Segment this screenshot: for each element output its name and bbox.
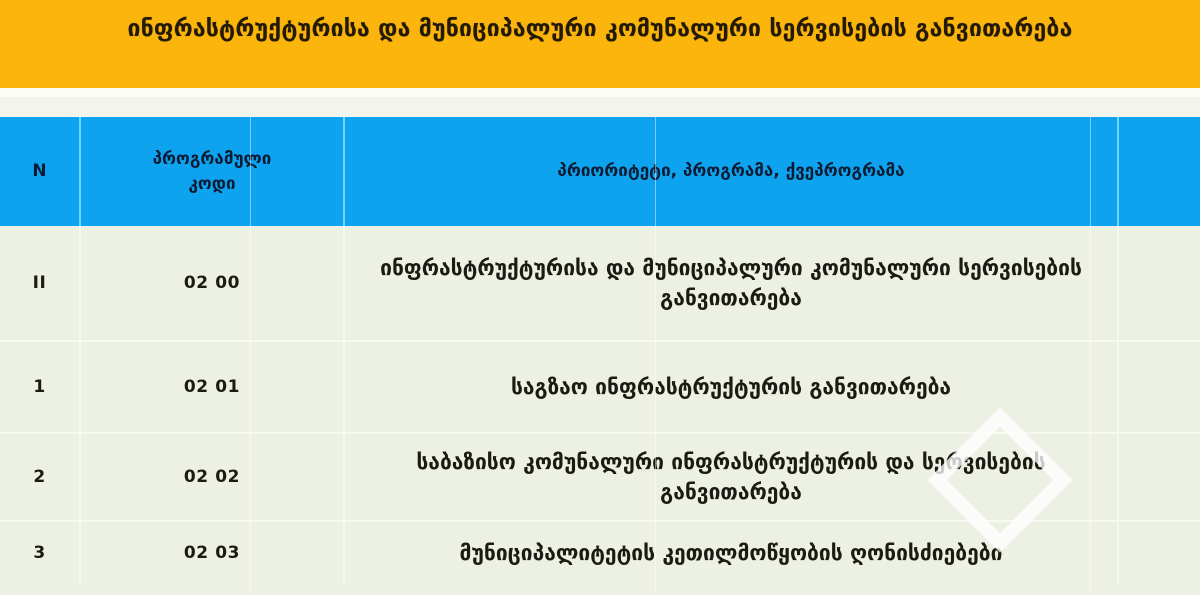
table-header: N პროგრამული კოდი პრიორიტეტი, პროგრამა, … — [0, 117, 1200, 226]
program-name-cell: საბაზისო კომუნალური ინფრასტრუქტურის და ს… — [344, 433, 1118, 521]
table-row: 3 02 03 მუნიციპალიტეტის კეთილმოწყობის ღო… — [0, 521, 1200, 584]
program-table-container: N პროგრამული კოდი პრიორიტეტი, პროგრამა, … — [0, 117, 1200, 595]
program-code-cell: 02 03 — [80, 521, 344, 584]
extra-cell — [1118, 433, 1200, 521]
program-name-cell: მუნიციპალიტეტის კეთილმოწყობის ღონისძიებე… — [344, 521, 1118, 584]
column-header-priority-program-subprogram: პრიორიტეტი, პროგრამა, ქვეპროგრამა — [344, 117, 1118, 226]
program-name-cell: საგზაო ინფრასტრუქტურის განვითარება — [344, 341, 1118, 433]
table-row: 2 02 02 საბაზისო კომუნალური ინფრასტრუქტუ… — [0, 433, 1200, 521]
table-row: 1 02 01 საგზაო ინფრასტრუქტურის განვითარე… — [0, 341, 1200, 433]
row-number-cell: 3 — [0, 521, 80, 584]
banner-gap-highlight — [0, 88, 1200, 97]
extra-cell — [1118, 341, 1200, 433]
page-title: ინფრასტრუქტურისა და მუნიციპალური კომუნალ… — [127, 14, 1072, 44]
table-row: II 02 00 ინფრასტრუქტურისა და მუნიციპალურ… — [0, 226, 1200, 341]
slide-root: ინფრასტრუქტურისა და მუნიციპალური კომუნალ… — [0, 0, 1200, 595]
title-banner: ინფრასტრუქტურისა და მუნიციპალური კომუნალ… — [0, 0, 1200, 88]
row-number-cell: 1 — [0, 341, 80, 433]
extra-cell — [1118, 226, 1200, 341]
table-header-row: N პროგრამული კოდი პრიორიტეტი, პროგრამა, … — [0, 117, 1200, 226]
program-name-cell: ინფრასტრუქტურისა და მუნიციპალური კომუნალ… — [344, 226, 1118, 341]
column-header-n: N — [0, 117, 80, 226]
program-table: N პროგრამული კოდი პრიორიტეტი, პროგრამა, … — [0, 117, 1200, 584]
program-code-cell: 02 00 — [80, 226, 344, 341]
extra-cell — [1118, 521, 1200, 584]
table-body: II 02 00 ინფრასტრუქტურისა და მუნიციპალურ… — [0, 226, 1200, 584]
column-header-extra — [1118, 117, 1200, 226]
program-code-cell: 02 01 — [80, 341, 344, 433]
row-number-cell: 2 — [0, 433, 80, 521]
row-number-cell: II — [0, 226, 80, 341]
program-code-cell: 02 02 — [80, 433, 344, 521]
column-header-program-code-line1: პროგრამული — [153, 149, 272, 169]
banner-gap-strip — [0, 88, 1200, 117]
column-header-program-code: პროგრამული კოდი — [80, 117, 344, 226]
column-header-program-code-line2: კოდი — [188, 174, 235, 194]
